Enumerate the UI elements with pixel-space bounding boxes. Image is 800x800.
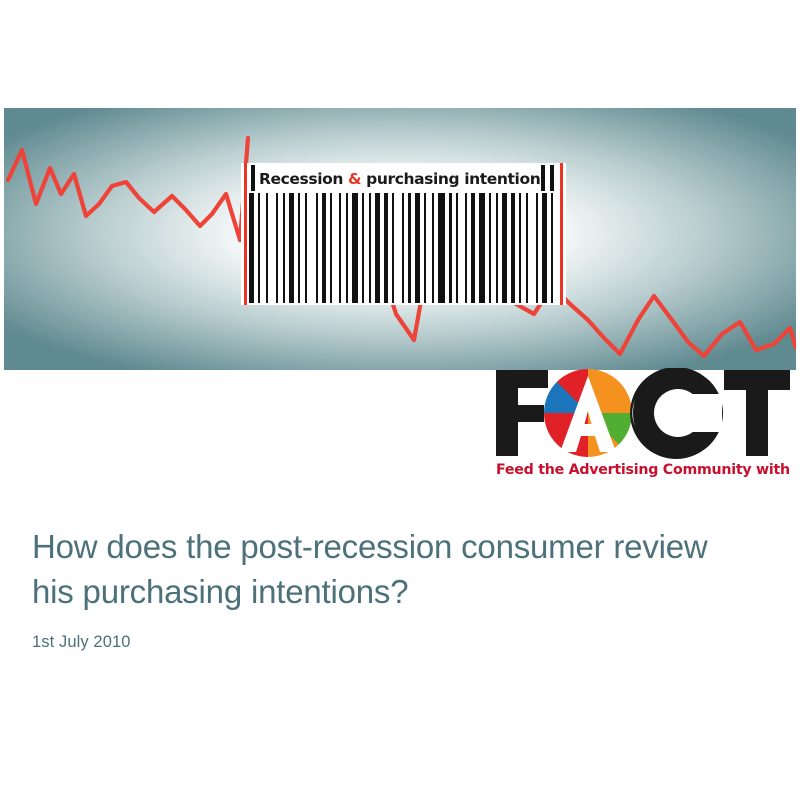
barcode-bar: [266, 193, 268, 303]
barcode-bar: [408, 193, 411, 303]
slide-date: 1st July 2010: [32, 632, 752, 652]
barcode-bar: [465, 193, 467, 303]
wedge-red: [544, 413, 588, 458]
barcode-bar: [432, 193, 434, 303]
barcode-bar: [438, 193, 445, 303]
logo-letter-t: [724, 370, 790, 456]
barcode-bar: [339, 193, 341, 303]
logo-letter-a-disc: [544, 369, 632, 458]
barcode-bar: [330, 193, 332, 303]
fact-logo-artwork: Feed the Advertising Community with Tren…: [492, 368, 792, 480]
barcode-bar: [502, 193, 507, 303]
barcode-bar: [526, 193, 528, 303]
barcode-bar: [289, 193, 294, 303]
barcode-bar: [402, 193, 404, 303]
barcode-bar: [322, 193, 326, 303]
barcode-bar: [352, 193, 358, 303]
slide-root: Recession & purchasing intention: [0, 0, 800, 800]
barcode-bar: [249, 193, 254, 303]
barcode-caption: Recession & purchasing intention: [259, 167, 551, 192]
barcode-bar: [456, 193, 458, 303]
barcode-guard-right: [560, 163, 563, 305]
barcode-guard-left: [244, 163, 247, 305]
barcode-bar: [384, 193, 388, 303]
barcode-bar: [551, 193, 553, 303]
barcode-bar: [471, 193, 475, 303]
barcode-bar: [276, 193, 278, 303]
barcode-bar: [375, 193, 380, 303]
barcode-bar: [536, 193, 538, 303]
logo-letter-f: [496, 370, 548, 456]
barcode-bar: [519, 193, 521, 303]
barcode-bar: [346, 193, 348, 303]
logo-letter-c-notch: [688, 394, 722, 432]
barcode-bar: [542, 193, 547, 303]
barcode-bars: [249, 193, 557, 303]
barcode-bar: [489, 193, 491, 303]
barcode-bar: [362, 193, 364, 303]
barcode-bar: [496, 193, 498, 303]
barcode-bar: [258, 193, 260, 303]
barcode-graphic: Recession & purchasing intention: [241, 163, 566, 305]
barcode-bar: [305, 193, 307, 303]
title-block: How does the post-recession consumer rev…: [32, 524, 752, 652]
barcode-bar: [298, 193, 300, 303]
fact-logo: Feed the Advertising Community with Tren…: [492, 368, 792, 480]
barcode-caption-ampersand: &: [348, 170, 361, 188]
barcode-bar: [449, 193, 452, 303]
barcode-caption-suffix: purchasing intention: [361, 170, 540, 188]
barcode-bar: [424, 193, 426, 303]
barcode-bar: [392, 193, 394, 303]
barcode-cap-bar-left: [251, 165, 255, 191]
logo-tagline: Feed the Advertising Community with Tren…: [496, 462, 792, 478]
barcode-bar: [415, 193, 420, 303]
barcode-bar: [369, 193, 371, 303]
barcode-bar: [283, 193, 285, 303]
barcode-bar: [316, 193, 318, 303]
barcode-bar: [479, 193, 485, 303]
barcode-caption-prefix: Recession: [259, 170, 348, 188]
barcode-bar: [511, 193, 515, 303]
page-title: How does the post-recession consumer rev…: [32, 524, 752, 614]
wedge-orange: [588, 369, 632, 413]
